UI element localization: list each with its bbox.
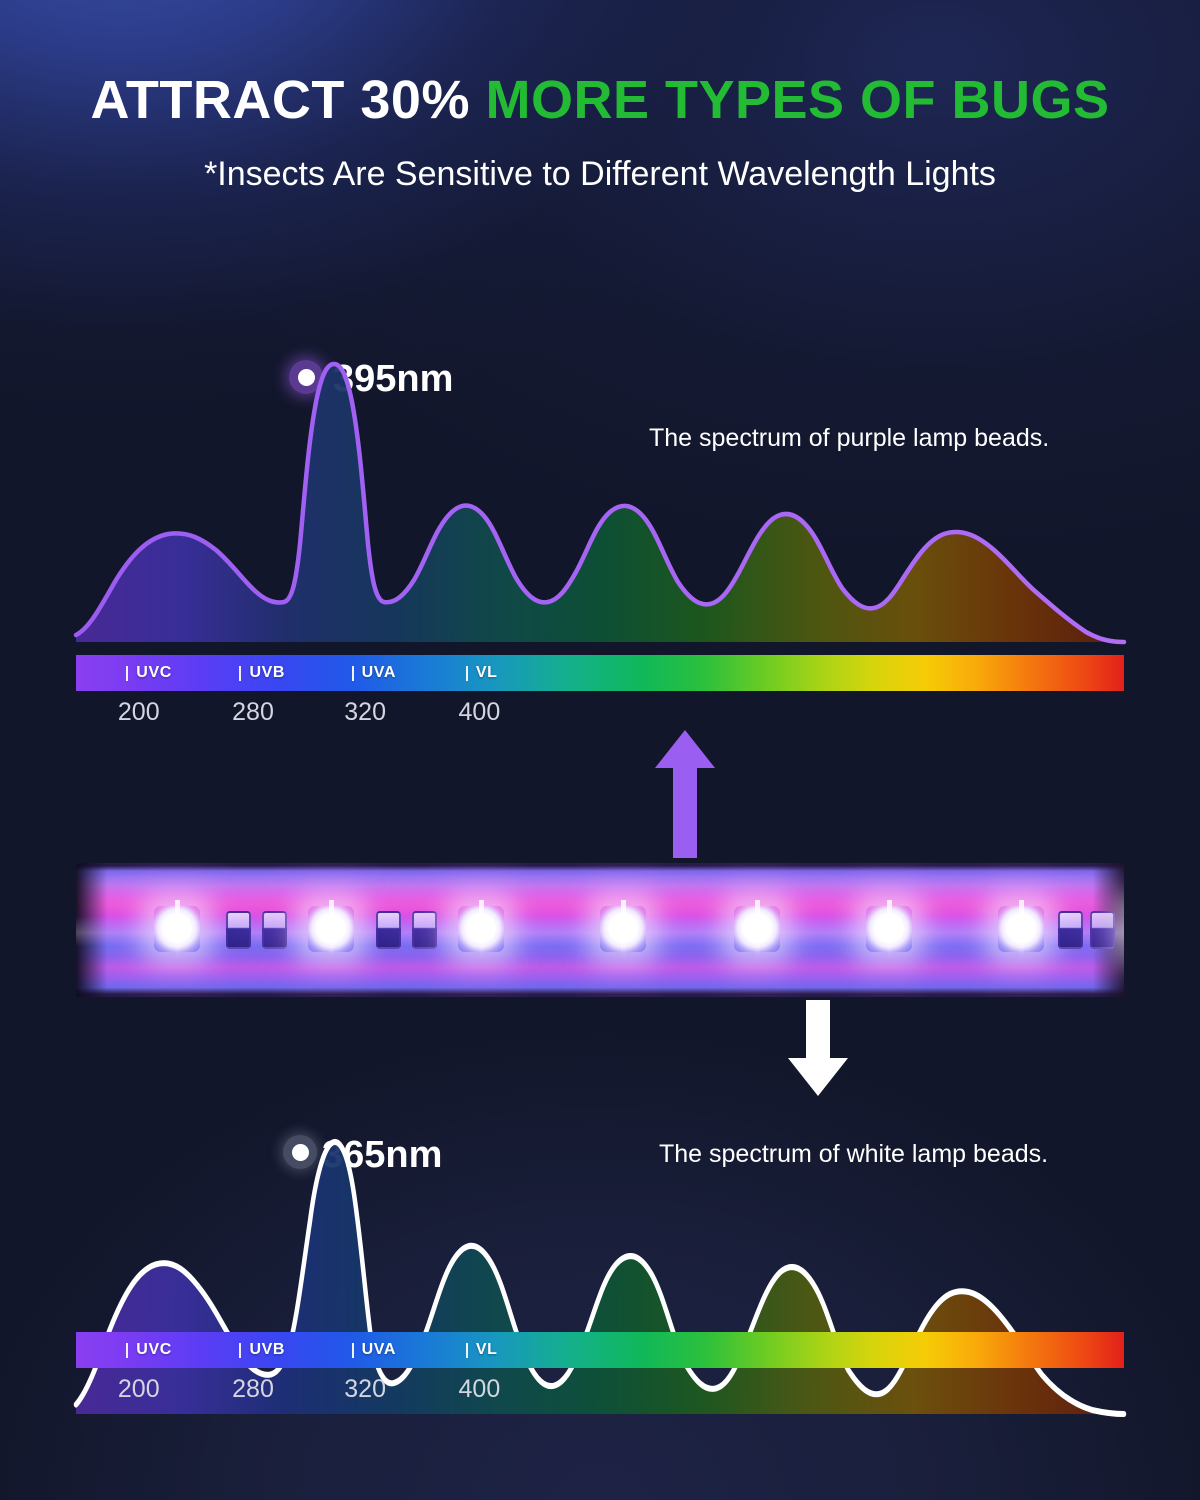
axis-tick-numbers-top: 200 280 320 400 bbox=[76, 698, 1124, 738]
band-tick-icon bbox=[239, 1343, 241, 1358]
chart-white-lamp-spectrum: The spectrum of white lamp beads. 365nm bbox=[76, 1124, 1124, 1339]
band-tick-icon bbox=[352, 1343, 354, 1358]
headline: ATTRACT 30% MORE TYPES OF BUGS bbox=[0, 72, 1200, 129]
led-chip bbox=[262, 911, 287, 949]
headline-white-part: ATTRACT 30% bbox=[90, 70, 485, 130]
led-bead bbox=[734, 906, 780, 952]
header: ATTRACT 30% MORE TYPES OF BUGS *Insects … bbox=[0, 0, 1200, 194]
arrow-up-purple-icon bbox=[655, 730, 715, 858]
led-chip bbox=[412, 911, 437, 949]
spectrum-curve-purple bbox=[76, 352, 1124, 642]
led-bead bbox=[600, 906, 646, 952]
band-tick-icon bbox=[239, 666, 241, 681]
axis-num-200-bottom: 200 bbox=[118, 1375, 160, 1404]
led-chip bbox=[1090, 911, 1115, 949]
band-label-uvb-top: UVB bbox=[239, 655, 285, 691]
band-label-vl-top: VL bbox=[466, 655, 498, 691]
band-label-uva-top: UVA bbox=[352, 655, 396, 691]
led-bead bbox=[308, 906, 354, 952]
led-bead bbox=[458, 906, 504, 952]
purple-curve-fill bbox=[76, 364, 1124, 642]
axis-num-400-bottom: 400 bbox=[459, 1375, 501, 1404]
axis-num-280-top: 280 bbox=[232, 698, 274, 727]
band-tick-icon bbox=[466, 1343, 468, 1358]
led-bead bbox=[866, 906, 912, 952]
band-label-uvc-top: UVC bbox=[126, 655, 172, 691]
spectrum-gradient-bar-bottom: UVC UVB UVA VL bbox=[76, 1332, 1124, 1368]
spectrum-gradient-bar-top: UVC UVB UVA VL bbox=[76, 655, 1124, 691]
spectrum-curve-white bbox=[76, 1124, 1124, 1339]
axis-num-320-bottom: 320 bbox=[344, 1375, 386, 1404]
subheadline: *Insects Are Sensitive to Different Wave… bbox=[0, 155, 1200, 194]
arrow-down-svg bbox=[788, 1000, 848, 1096]
led-bead bbox=[154, 906, 200, 952]
axis-num-280-bottom: 280 bbox=[232, 1375, 274, 1404]
purple-curve-svg bbox=[76, 352, 1124, 642]
band-tick-icon bbox=[352, 666, 354, 681]
band-label-uva-bottom: UVA bbox=[352, 1332, 396, 1368]
band-tick-icon bbox=[126, 1343, 128, 1358]
band-label-uvb-bottom: UVB bbox=[239, 1332, 285, 1368]
band-tick-icon bbox=[126, 666, 128, 681]
uv-led-strip bbox=[76, 863, 1124, 997]
led-chip bbox=[226, 911, 251, 949]
spectrum-axis-top: UVC UVB UVA VL 200 280 320 400 bbox=[76, 655, 1124, 738]
chart-purple-lamp-spectrum: The spectrum of purple lamp beads. 395nm bbox=[76, 352, 1124, 642]
axis-num-200-top: 200 bbox=[118, 698, 160, 727]
infographic-page: ATTRACT 30% MORE TYPES OF BUGS *Insects … bbox=[0, 0, 1200, 1500]
band-tick-icon bbox=[466, 666, 468, 681]
led-chip bbox=[1058, 911, 1083, 949]
led-bead bbox=[998, 906, 1044, 952]
band-label-uvc-bottom: UVC bbox=[126, 1332, 172, 1368]
spectrum-axis-bottom: UVC UVB UVA VL 200 280 320 400 bbox=[76, 1332, 1124, 1415]
axis-num-320-top: 320 bbox=[344, 698, 386, 727]
axis-tick-numbers-bottom: 200 280 320 400 bbox=[76, 1375, 1124, 1415]
arrow-up-svg bbox=[655, 730, 715, 858]
arrow-down-white-icon bbox=[788, 1000, 848, 1096]
led-chip bbox=[376, 911, 401, 949]
axis-num-400-top: 400 bbox=[459, 698, 501, 727]
band-label-vl-bottom: VL bbox=[466, 1332, 498, 1368]
headline-green-part: MORE TYPES OF BUGS bbox=[485, 70, 1109, 130]
